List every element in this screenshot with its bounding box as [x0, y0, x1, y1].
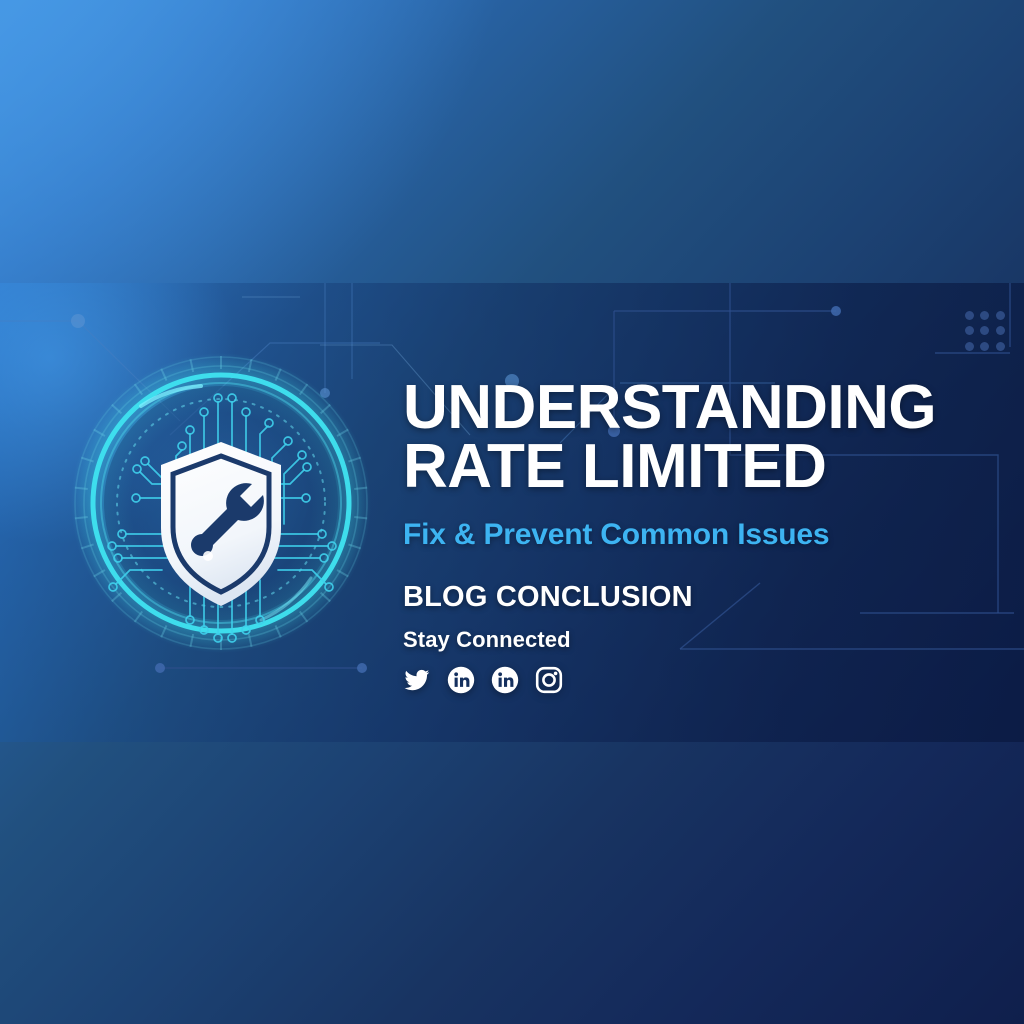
- instagram-icon[interactable]: [535, 666, 563, 694]
- grid-dot: [965, 342, 974, 351]
- grid-dot: [980, 326, 989, 335]
- stay-connected-label: Stay Connected: [403, 627, 1003, 653]
- page-title: UNDERSTANDING RATE LIMITED: [403, 378, 1003, 496]
- security-shield-emblem: [56, 338, 386, 668]
- social-links: [403, 666, 1003, 694]
- linkedin-icon[interactable]: [491, 666, 519, 694]
- shield-wrench-icon: [56, 338, 386, 668]
- twitter-icon[interactable]: [403, 666, 431, 694]
- section-kicker: BLOG CONCLUSION: [403, 581, 1003, 613]
- grid-dot: [965, 311, 974, 320]
- grid-dot: [996, 311, 1005, 320]
- grid-dot: [980, 311, 989, 320]
- grid-dot: [980, 342, 989, 351]
- dot-grid-decoration: [962, 308, 1008, 354]
- grid-dot: [996, 342, 1005, 351]
- grid-dot: [996, 326, 1005, 335]
- grid-dot: [965, 326, 974, 335]
- banner-canvas: UNDERSTANDING RATE LIMITED Fix & Prevent…: [0, 0, 1024, 1024]
- linkedin-icon[interactable]: [447, 666, 475, 694]
- text-content: UNDERSTANDING RATE LIMITED Fix & Prevent…: [403, 378, 1003, 694]
- page-subtitle: Fix & Prevent Common Issues: [403, 518, 1003, 552]
